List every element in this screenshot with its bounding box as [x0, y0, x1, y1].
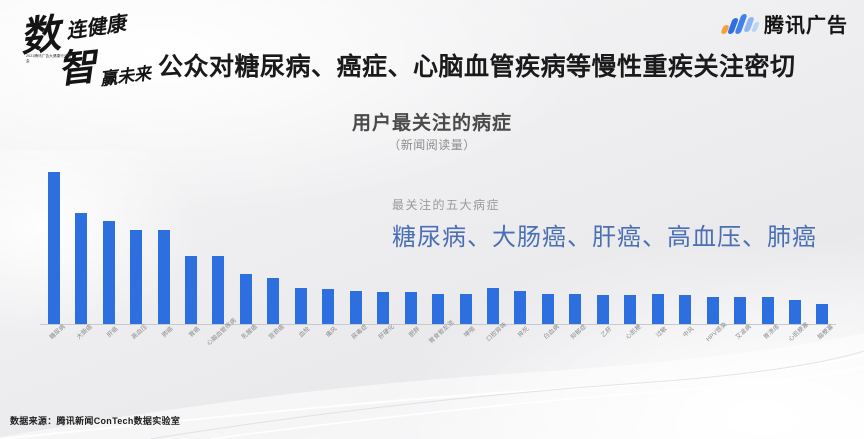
- tencent-ads-logo: 腾讯广告: [722, 9, 848, 38]
- x-label-cell: 过敏: [644, 326, 671, 386]
- x-label-cell: 肝癌: [95, 326, 122, 386]
- bar-cell: [644, 294, 671, 324]
- bar: [240, 274, 252, 324]
- bar-cell: [726, 297, 753, 324]
- chart-title: 用户最关注的病症: [0, 108, 864, 135]
- bar: [707, 297, 719, 324]
- bar-cell: [507, 291, 534, 324]
- bar-cell: [534, 294, 561, 324]
- bar: [569, 294, 581, 324]
- x-axis-tick-label: 血栓: [296, 324, 311, 339]
- bar: [267, 278, 279, 324]
- bar-cell: [589, 295, 616, 324]
- bar: [762, 297, 774, 324]
- bar: [212, 256, 224, 324]
- x-label-cell: 乳腺癌: [232, 326, 259, 386]
- x-label-cell: 心肌梗塞: [781, 326, 808, 386]
- x-axis-tick-label: 胃癌: [186, 324, 201, 339]
- bar: [295, 288, 307, 324]
- bar-cell: [40, 172, 67, 324]
- bar-cell: [452, 294, 479, 324]
- x-label-cell: 猝死: [507, 326, 534, 386]
- bar-cell: [232, 274, 259, 324]
- bar-cell: [205, 256, 232, 324]
- bar: [48, 172, 60, 324]
- slide-background: 数 连健康 智 赢未来 2021腾讯广告大健康行业峰会 腾讯广告 公众对糖尿病、…: [0, 0, 864, 439]
- x-axis-tick-label: 过敏: [653, 324, 668, 339]
- bar: [679, 295, 691, 324]
- bar: [130, 230, 142, 324]
- x-axis-tick-label: 痛风: [324, 324, 339, 339]
- x-axis-tick-label: 猝死: [516, 324, 531, 339]
- x-axis-tick-label: 肺癌: [159, 324, 174, 339]
- x-label-cell: 胃溃疡: [754, 326, 781, 386]
- bar: [652, 294, 664, 324]
- logo-text-yingweilai: 赢未来: [99, 65, 152, 88]
- bar: [487, 288, 499, 324]
- x-label-cell: 痛风: [315, 326, 342, 386]
- x-label-cell: 心肌梗: [617, 326, 644, 386]
- x-label-cell: 抑郁症: [562, 326, 589, 386]
- bar-cell: [287, 288, 314, 324]
- bar: [624, 295, 636, 324]
- x-label-cell: 乙肝: [589, 326, 616, 386]
- x-label-cell: 高血压: [122, 326, 149, 386]
- bar-cell: [754, 297, 781, 324]
- bar: [432, 294, 444, 324]
- x-label-cell: 尿毒症: [342, 326, 369, 386]
- bar: [542, 294, 554, 324]
- x-axis-tick-label: 肥胖: [406, 324, 421, 339]
- x-label-cell: 胃癌: [177, 326, 204, 386]
- bar-series: [40, 170, 836, 324]
- x-axis-tick-label: 哮喘: [461, 324, 476, 339]
- chart-subtitle: （新闻阅读量）: [0, 136, 864, 153]
- bar: [816, 304, 828, 324]
- bar: [350, 291, 362, 324]
- x-label-cell: 肥胖: [397, 326, 424, 386]
- bar: [460, 294, 472, 324]
- x-axis-tick-label: 肝癌: [104, 324, 119, 339]
- bar-cell: [617, 295, 644, 324]
- bar: [75, 213, 87, 324]
- x-label-cell: 心脑血管疾病: [205, 326, 232, 386]
- bar-cell: [369, 292, 396, 324]
- x-axis-labels: 糖尿病大肠癌肝癌高血压肺癌胃癌心脑血管疾病乳腺癌宫颈癌血栓痛风尿毒症肝硬化肥胖胃…: [40, 326, 836, 386]
- bar-cell: [562, 294, 589, 324]
- x-label-cell: 肝硬化: [369, 326, 396, 386]
- bar-cell: [260, 278, 287, 324]
- bar-cell: [671, 295, 698, 324]
- x-label-cell: HPV感染: [699, 326, 726, 386]
- bar-cell: [67, 213, 94, 324]
- x-label-cell: 胃食管反流: [424, 326, 451, 386]
- bar: [734, 297, 746, 324]
- x-label-cell: 血栓: [287, 326, 314, 386]
- x-axis-tick-label: 中风: [681, 324, 696, 339]
- x-label-cell: 大肠癌: [67, 326, 94, 386]
- bar-cell: [315, 289, 342, 324]
- event-logo: 数 连健康 智 赢未来 2021腾讯广告大健康行业峰会: [14, 6, 154, 98]
- bar-cell: [809, 304, 836, 324]
- bar: [103, 221, 115, 324]
- tencent-ads-label: 腾讯广告: [764, 9, 848, 38]
- x-label-cell: 哮喘: [452, 326, 479, 386]
- bar: [185, 256, 197, 324]
- bar: [405, 292, 417, 324]
- bar-cell: [342, 291, 369, 324]
- x-label-cell: 脑梗塞: [809, 326, 836, 386]
- x-label-cell: 中风: [671, 326, 698, 386]
- bar: [322, 289, 334, 324]
- x-label-cell: 口腔异味: [479, 326, 506, 386]
- bar: [377, 292, 389, 324]
- tencent-ads-mark-icon: [722, 14, 756, 34]
- x-label-cell: 艾滋病: [726, 326, 753, 386]
- bar-cell: [122, 230, 149, 324]
- bar: [158, 230, 170, 324]
- bar: [514, 291, 526, 324]
- bar-cell: [177, 256, 204, 324]
- page-title: 公众对糖尿病、癌症、心脑血管疾病等慢性重疾关注密切: [158, 47, 796, 83]
- bar-cell: [397, 292, 424, 324]
- bar: [789, 300, 801, 324]
- bar: [597, 295, 609, 324]
- x-label-cell: 糖尿病: [40, 326, 67, 386]
- bar-chart: [40, 170, 836, 325]
- bar-cell: [479, 288, 506, 324]
- x-label-cell: 宫颈癌: [260, 326, 287, 386]
- bar-cell: [95, 221, 122, 324]
- bar-cell: [150, 230, 177, 324]
- x-axis-tick-label: 乙肝: [598, 324, 613, 339]
- x-label-cell: 白血病: [534, 326, 561, 386]
- x-label-cell: 肺癌: [150, 326, 177, 386]
- logo-subtitle: 2021腾讯广告大健康行业峰会: [26, 54, 72, 65]
- logo-text-lianjiankang: 连健康: [65, 14, 127, 42]
- data-source-note: 数据来源：腾讯新闻ConTech数据实验室: [10, 414, 180, 427]
